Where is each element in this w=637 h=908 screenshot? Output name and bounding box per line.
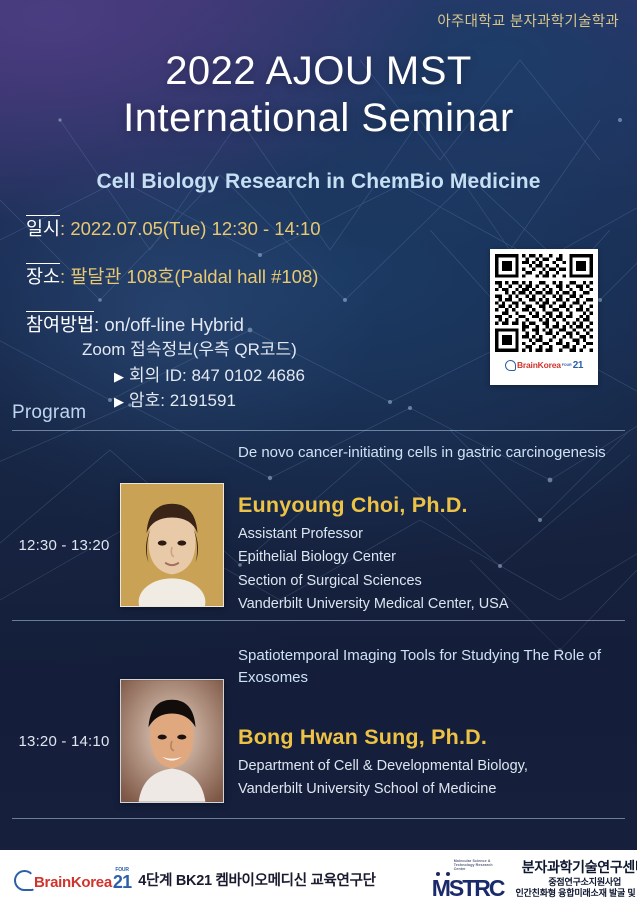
speaker-name-2: Bong Hwan Sung, Ph.D. (238, 725, 627, 750)
speaker-portrait-2 (121, 680, 223, 802)
date-label: 일시 (26, 215, 60, 242)
brainkorea-number-text: 21 (113, 873, 131, 891)
footer-bar: BrainKorea FOUR 21 4단계 BK21 켐바이오메디신 교육연구… (0, 850, 637, 908)
affiliation-line: Section of Surgical Sciences (238, 570, 627, 593)
affiliation-line: Vanderbilt University School of Medicine (238, 778, 627, 801)
passcode-line: ▶암호: 2191591 (114, 388, 466, 414)
center-name: 분자과학기술연구센터 (522, 859, 637, 877)
affiliation-line: Epithelial Biology Center (238, 546, 627, 569)
title-line-1: 2022 AJOU MST (0, 48, 637, 95)
brainkorea-number-group: FOUR 21 (113, 868, 131, 891)
speaker-portrait-1 (121, 484, 223, 606)
method-value: : on/off-line Hybrid (94, 314, 244, 335)
qr-code-card[interactable]: BrainKorea FOUR 21 (490, 249, 598, 385)
place-label: 장소 (26, 263, 60, 290)
brainkorea-number-text: 21 (573, 360, 583, 371)
affiliation-line: Department of Cell & Developmental Biolo… (238, 755, 627, 778)
date-value: : 2022.07.05(Tue) 12:30 - 14:10 (60, 218, 321, 239)
program-heading: Program (12, 402, 86, 424)
seminar-poster: 아주대학교 분자과학기술학과 2022 AJOU MST Internation… (0, 0, 637, 908)
triangle-bullet-icon: ▶ (114, 369, 124, 384)
program-description: 인간친화형 융합미래소재 발굴 및 확보 (515, 888, 637, 899)
footer-left-group: BrainKorea FOUR 21 4단계 BK21 켐바이오메디신 교육연구… (14, 868, 376, 891)
mstrc-logo-text: MSTRC (432, 877, 504, 900)
program-bottom-divider (12, 818, 625, 819)
speaker-photo-2 (120, 679, 224, 803)
speaker-affiliation-1: Assistant Professor Epithelial Biology C… (238, 523, 627, 617)
mstrc-logo-subtitle: Molecular Science & Technology Research … (454, 859, 504, 871)
zoom-info-line: Zoom 접속정보(우측 QR코드) (82, 338, 466, 363)
speaker-photo-1 (120, 483, 224, 607)
department-name: 아주대학교 분자과학기술학과 (437, 10, 619, 31)
footer-left-text: 4단계 BK21 켐바이오메디신 교육연구단 (138, 869, 375, 890)
meeting-id-text: 회의 ID: 847 0102 4686 (129, 366, 305, 385)
program-divider (12, 430, 625, 431)
session-divider (12, 620, 625, 621)
place-value: : 팔달관 108호(Paldal hall #108) (60, 266, 318, 287)
footer-right-group: Molecular Science & Technology Research … (432, 859, 637, 900)
info-row-place: 장소: 팔달관 108호(Paldal hall #108) (26, 263, 466, 290)
affiliation-line: Assistant Professor (238, 523, 627, 546)
brainkorea-brand-text: BrainKorea (34, 874, 112, 891)
session-time-1: 12:30 - 13:20 (14, 537, 114, 554)
qr-code-icon[interactable] (495, 254, 593, 352)
speaker-affiliation-2: Department of Cell & Developmental Biolo… (238, 755, 627, 802)
info-row-method: 참여방법: on/off-line Hybrid Zoom 접속정보(우측 QR… (26, 311, 466, 414)
brainkorea-head-icon (505, 360, 516, 371)
talk-title-2: Spatiotemporal Imaging Tools for Studyin… (238, 645, 627, 689)
brainkorea-brand-text: BrainKorea (517, 360, 561, 370)
triangle-bullet-icon: ▶ (114, 394, 124, 409)
info-row-date: 일시: 2022.07.05(Tue) 12:30 - 14:10 (26, 215, 466, 242)
brainkorea21-logo: BrainKorea FOUR 21 (14, 868, 131, 891)
title-line-2: International Seminar (0, 95, 637, 142)
footer-right-text-group: 분자과학기술연구센터 중점연구소지원사업 인간친화형 융합미래소재 발굴 및 확… (515, 859, 637, 899)
passcode-text: 암호: 2191591 (129, 391, 236, 410)
meeting-id-line: ▶회의 ID: 847 0102 4686 (114, 363, 466, 389)
brainkorea-head-icon (14, 870, 35, 891)
brainkorea21-logo-small: BrainKorea FOUR 21 (495, 356, 593, 374)
program-name: 중점연구소지원사업 (548, 877, 621, 888)
session-time-2: 13:20 - 14:10 (14, 733, 114, 750)
page-title: 2022 AJOU MST International Seminar (0, 48, 637, 142)
event-info-block: 일시: 2022.07.05(Tue) 12:30 - 14:10 장소: 팔달… (26, 215, 466, 414)
brainkorea-four-text: FOUR (562, 363, 572, 367)
mstrc-logo: Molecular Science & Technology Research … (432, 859, 504, 900)
talk-title-1: De novo cancer-initiating cells in gastr… (238, 442, 627, 464)
speaker-name-1: Eunyoung Choi, Ph.D. (238, 493, 627, 518)
page-subtitle: Cell Biology Research in ChemBio Medicin… (0, 170, 637, 194)
affiliation-line: Vanderbilt University Medical Center, US… (238, 593, 627, 616)
method-label: 참여방법 (26, 311, 94, 338)
